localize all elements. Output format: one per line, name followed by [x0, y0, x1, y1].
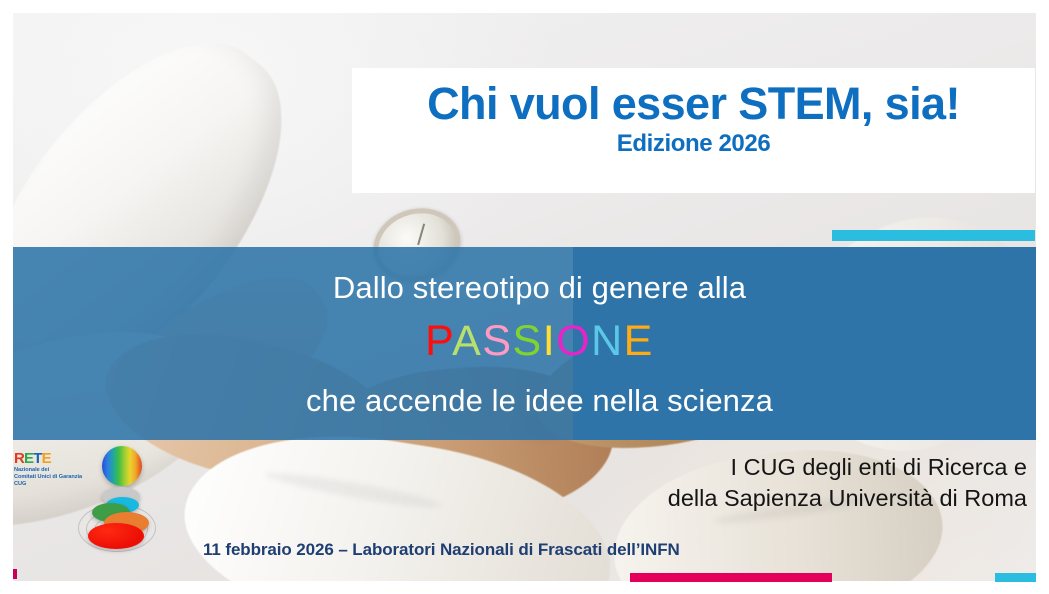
logo-subtitle-line-2: Comitati Unici di Garanzia	[14, 474, 82, 481]
passione-letter-1: A	[452, 317, 482, 365]
crimson-accent-tick-left	[13, 569, 17, 579]
event-date-venue: 11 febbraio 2026 – Laboratori Nazionali …	[203, 540, 680, 560]
logo-wordmark-block: RETE Nazionale dei Comitati Unici di Gar…	[14, 451, 82, 488]
passione-letter-5: O	[556, 317, 591, 365]
passione-letter-0: P	[425, 317, 452, 365]
page-margin-right	[1036, 0, 1049, 594]
organisation-block: I CUG degli enti di Ricerca e della Sapi…	[507, 452, 1027, 514]
passione-letter-6: N	[591, 317, 624, 365]
passione-letter-3: S	[513, 317, 543, 365]
edition-label: Edizione 2026	[617, 130, 771, 158]
logo-wordmark-rete: RETE	[14, 451, 82, 466]
logo-rainbow-disc	[102, 446, 142, 486]
passione-letter-4: I	[543, 317, 556, 365]
logo-letter-3: E	[42, 450, 51, 467]
logo-pebble-red	[88, 523, 144, 549]
logo-subtitle: Nazionale dei Comitati Unici di Garanzia…	[14, 467, 82, 488]
logo-pebble-art	[84, 446, 154, 558]
page-margin-top	[0, 0, 1049, 13]
subtitle-line-3: che accende le idee nella scienza	[306, 383, 773, 419]
title-card: Chi vuol esser STEM, sia! Edizione 2026	[352, 68, 1035, 193]
subtitle-banner: Dallo stereotipo di genere alla PASSIONE…	[13, 247, 1036, 440]
main-title: Chi vuol esser STEM, sia!	[427, 80, 960, 127]
banner-text-block: Dallo stereotipo di genere alla PASSIONE…	[13, 247, 1036, 440]
organisation-line-1: I CUG degli enti di Ricerca e	[507, 452, 1027, 483]
subtitle-line-1: Dallo stereotipo di genere alla	[333, 270, 746, 306]
presentation-slide: Chi vuol esser STEM, sia! Edizione 2026 …	[0, 0, 1049, 594]
passione-letter-2: S	[482, 317, 512, 365]
cyan-accent-bar-top	[832, 230, 1035, 241]
crimson-accent-bar-bottom	[630, 573, 832, 582]
page-margin-bottom	[0, 582, 1049, 594]
passione-letter-7: E	[624, 317, 654, 365]
logo-letter-1: E	[24, 450, 33, 467]
cyan-accent-bar-bottom	[995, 573, 1036, 582]
rete-cug-logo: RETE Nazionale dei Comitati Unici di Gar…	[14, 448, 154, 568]
passione-keyword: PASSIONE	[425, 320, 654, 363]
logo-letter-2: T	[33, 450, 41, 467]
logo-subtitle-line-3: CUG	[14, 481, 82, 488]
page-margin-left	[0, 0, 13, 594]
organisation-line-2: della Sapienza Università di Roma	[507, 483, 1027, 514]
logo-subtitle-line-1: Nazionale dei	[14, 467, 82, 474]
logo-letter-0: R	[14, 450, 24, 467]
